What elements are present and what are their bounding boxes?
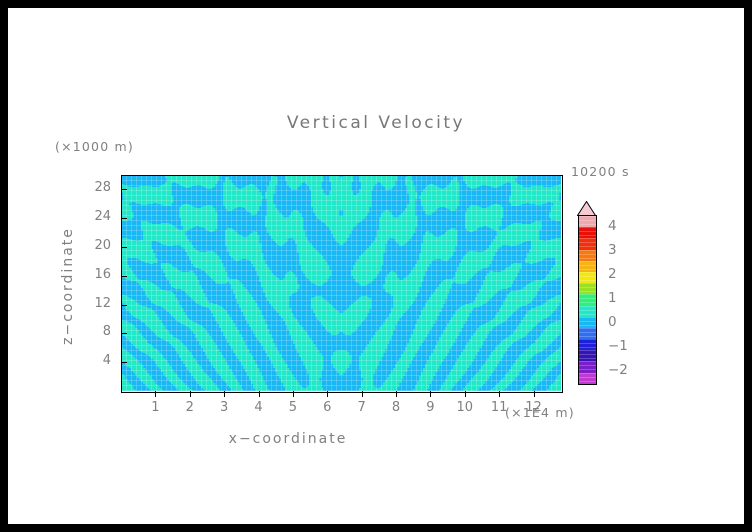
x-axis-tick-label: 12: [514, 400, 554, 415]
colorbar-band-texture: [579, 373, 596, 384]
figure-canvas: Vertical Velocity (×1000 m) (×1E4 m) 102…: [8, 8, 744, 524]
x-axis-tick: [190, 391, 191, 397]
colorbar-band-texture: [579, 261, 596, 272]
y-axis-tick: [121, 218, 127, 219]
x-axis-tick: [499, 391, 500, 397]
colorbar-band: [579, 261, 596, 272]
colorbar-tick-label: −2: [608, 362, 628, 378]
x-axis-tick: [259, 391, 260, 397]
y-axis-tick-label: 24: [71, 209, 111, 224]
y-axis-tick: [121, 362, 127, 363]
x-axis-tick: [534, 391, 535, 397]
colorbar-band: [579, 306, 596, 317]
colorbar-band: [579, 328, 596, 339]
colorbar-band-texture: [579, 250, 596, 261]
colorbar-band: [579, 227, 596, 238]
chart-title: Vertical Velocity: [8, 113, 744, 133]
colorbar-band-texture: [579, 317, 596, 328]
colorbar-band: [579, 294, 596, 305]
x-axis-title: x−coordinate: [8, 431, 568, 447]
colorbar-band: [579, 373, 596, 384]
colorbar-band: [579, 272, 596, 283]
y-axis-tick: [121, 276, 127, 277]
y-axis-tick-label: 20: [71, 238, 111, 253]
colorbar: [578, 215, 597, 385]
colorbar-band: [579, 250, 596, 261]
y-axis-tick-label: 12: [71, 296, 111, 311]
y-axis-tick: [121, 305, 127, 306]
colorbar-band: [579, 361, 596, 372]
colorbar-band-texture: [579, 238, 596, 249]
x-axis-tick: [465, 391, 466, 397]
contour-plot-area: [121, 175, 561, 391]
x-axis-tick: [396, 391, 397, 397]
colorbar-extend-arrow: [577, 201, 596, 216]
colorbar-band-texture: [579, 272, 596, 283]
y-axis-tick: [121, 189, 127, 190]
time-annotation: 10200 s: [571, 164, 630, 179]
x-axis-tick: [155, 391, 156, 397]
y-axis-unit-label: (×1000 m): [55, 139, 134, 154]
positive-velocity-region: [121, 175, 561, 391]
colorbar-band: [579, 283, 596, 294]
colorbar-band: [579, 350, 596, 361]
x-axis-tick: [293, 391, 294, 397]
colorbar-tick-label: 4: [608, 218, 617, 234]
colorbar-tick-label: 1: [608, 290, 617, 306]
colorbar-tick-label: 3: [608, 242, 617, 258]
colorbar-band-texture: [579, 294, 596, 305]
colorbar-band-texture: [579, 216, 596, 227]
vertical-velocity-field: [121, 175, 561, 391]
x-axis-tick: [430, 391, 431, 397]
y-axis-tick-label: 4: [71, 353, 111, 368]
y-axis-tick: [121, 247, 127, 248]
colorbar-tick-label: 0: [608, 314, 617, 330]
y-axis-tick: [121, 333, 127, 334]
colorbar-band-texture: [579, 227, 596, 238]
colorbar-band-texture: [579, 361, 596, 372]
colorbar-band: [579, 216, 596, 227]
x-axis-tick: [327, 391, 328, 397]
colorbar-band: [579, 339, 596, 350]
y-axis-tick-label: 28: [71, 180, 111, 195]
colorbar-band-texture: [579, 339, 596, 350]
colorbar-band-texture: [579, 328, 596, 339]
colorbar-band-texture: [579, 350, 596, 361]
y-axis-tick-label: 8: [71, 324, 111, 339]
colorbar-band-texture: [579, 306, 596, 317]
x-axis-tick: [362, 391, 363, 397]
colorbar-band-texture: [579, 283, 596, 294]
x-axis-tick: [224, 391, 225, 397]
colorbar-band: [579, 238, 596, 249]
colorbar-tick-label: −1: [608, 338, 628, 354]
colorbar-band: [579, 317, 596, 328]
y-axis-tick-label: 16: [71, 267, 111, 282]
colorbar-tick-label: 2: [608, 266, 617, 282]
